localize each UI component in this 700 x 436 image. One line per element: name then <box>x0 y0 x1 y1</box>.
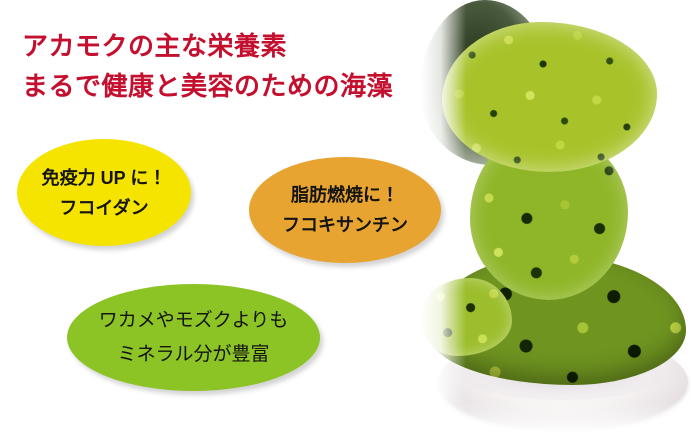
bubble-fucoidan-line-2: フコイダン <box>59 193 148 223</box>
bubble-fucoxanthin-line-2: フコキサンチン <box>282 210 408 240</box>
bubble-fucoidan: 免疫力 UP に！ フコイダン <box>17 139 191 246</box>
seaweed-top-clump <box>442 22 657 172</box>
bubble-minerals-line-1: ワカメやモズクよりも <box>99 304 289 338</box>
headline-line-1: アカモクの主な栄養素 <box>22 26 393 66</box>
headline: アカモクの主な栄養素 まるで健康と美容のための海藻 <box>22 26 393 106</box>
bubble-fucoidan-line-1: 免疫力 UP に！ <box>42 163 167 193</box>
poster-canvas: アカモクの主な栄養素 まるで健康と美容のための海藻 免疫力 UP に！ フコイダ… <box>0 0 700 436</box>
photo-bottom-fade <box>420 402 700 436</box>
bubble-fucoxanthin-line-1: 脂肪燃焼に！ <box>291 180 399 210</box>
bubble-minerals-line-2: ミネラル分が豊富 <box>117 338 269 372</box>
bubble-minerals: ワカメやモズクよりも ミネラル分が豊富 <box>67 284 320 391</box>
headline-line-2: まるで健康と美容のための海藻 <box>22 66 393 106</box>
seaweed-photo <box>420 0 700 436</box>
bubble-fucoxanthin: 脂肪燃焼に！ フコキサンチン <box>249 157 441 263</box>
